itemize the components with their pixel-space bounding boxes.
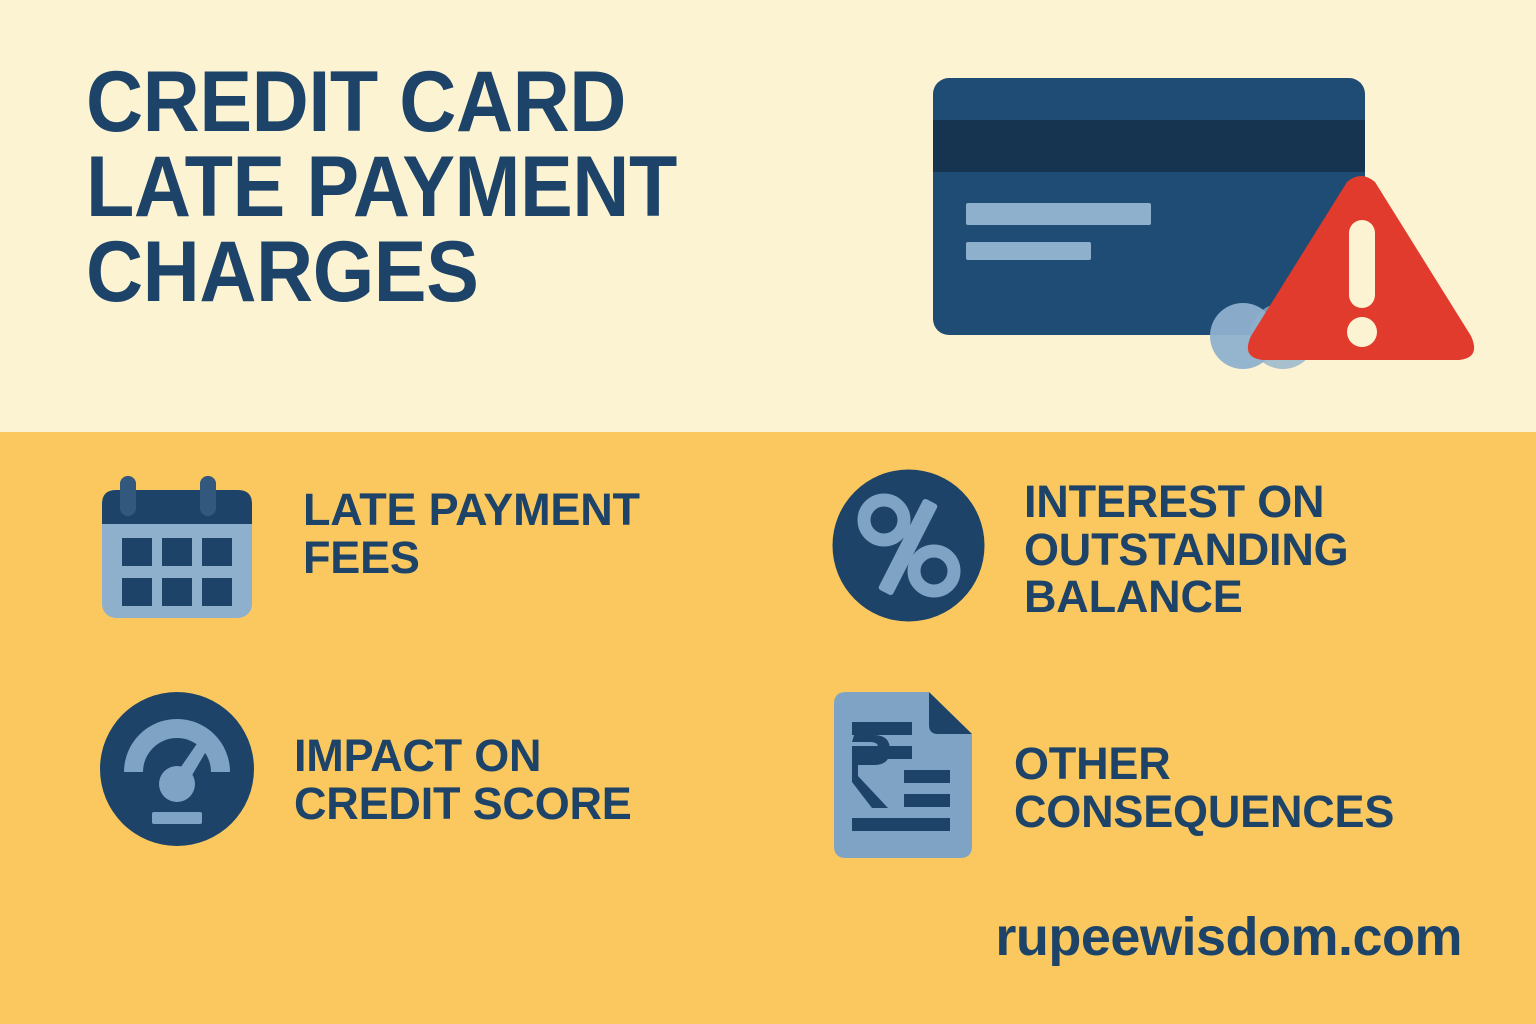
rupee-document-icon — [826, 690, 976, 865]
credit-card-name-bar — [966, 242, 1091, 260]
item-impact-on-credit-score[interactable]: Impact On Credit Score — [98, 690, 632, 853]
item-label-line: Balance — [1024, 573, 1348, 621]
item-other-consequences[interactable]: Other Consequences — [826, 690, 1394, 865]
item-label-line: Late Payment — [303, 486, 640, 534]
page-title-line-2: Late Payment — [86, 145, 822, 230]
item-label-line: Interest On — [1024, 478, 1348, 526]
item-label-line: Impact On — [294, 732, 632, 780]
calendar-icon — [100, 470, 263, 625]
page-title-line-1: Credit Card — [86, 60, 822, 145]
credit-card-magnetic-stripe — [933, 120, 1365, 172]
item-late-payment-fees[interactable]: Late Payment Fees — [100, 470, 640, 625]
item-label-line: Fees — [303, 534, 640, 582]
item-other-consequences-label: Other Consequences — [1014, 740, 1394, 835]
item-label-line: Consequences — [1014, 788, 1394, 836]
infographic-canvas: Credit Card Late Payment Charges — [0, 0, 1536, 1024]
percent-circle-icon — [831, 468, 986, 628]
item-label-line: Outstanding — [1024, 526, 1348, 574]
page-title-line-3: Charges — [86, 230, 822, 315]
speedometer-icon — [98, 690, 256, 853]
item-interest-on-outstanding-balance[interactable]: Interest On Outstanding Balance — [831, 468, 1348, 628]
item-impact-on-credit-score-label: Impact On Credit Score — [294, 732, 632, 827]
credit-card-number-bar — [966, 203, 1151, 225]
warning-triangle-icon — [1245, 168, 1477, 366]
item-label-line: Other — [1014, 740, 1394, 788]
website-url[interactable]: rupeewisdom.com — [995, 906, 1462, 968]
item-late-payment-fees-label: Late Payment Fees — [303, 486, 640, 581]
item-label-line: Credit Score — [294, 780, 632, 828]
item-interest-on-outstanding-balance-label: Interest On Outstanding Balance — [1024, 478, 1348, 621]
page-title: Credit Card Late Payment Charges — [86, 60, 822, 315]
